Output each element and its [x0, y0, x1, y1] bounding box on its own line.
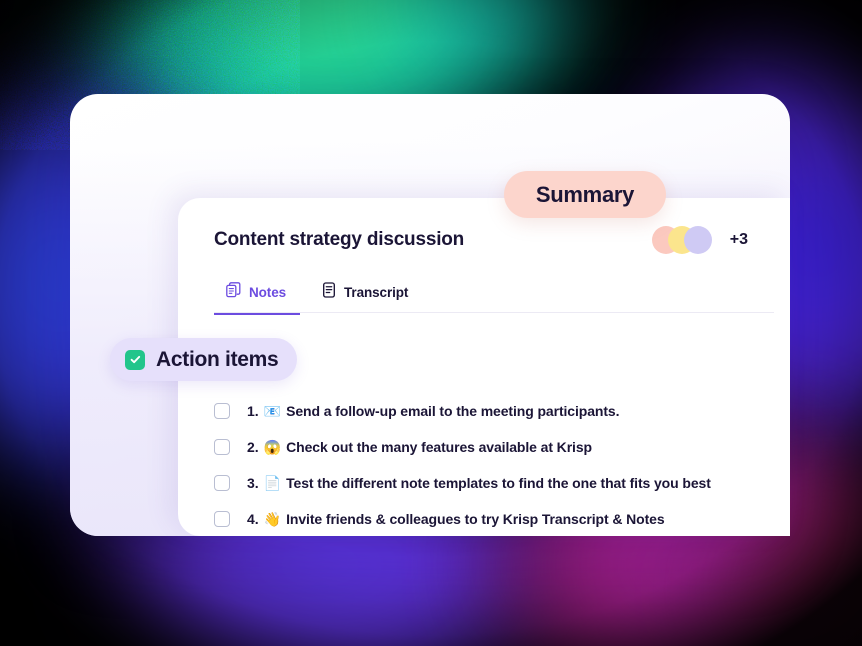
list-item[interactable]: 1. 📧 Send a follow-up email to the meeti…	[214, 393, 782, 429]
list-item[interactable]: 2. 😱 Check out the many features availab…	[214, 429, 782, 465]
tab-bar: Notes Transcript	[214, 278, 422, 315]
action-item-index: 4.	[247, 511, 259, 527]
status-badge-summary[interactable]: Summary	[504, 171, 666, 218]
action-item-index: 2.	[247, 439, 259, 455]
action-item-index: 3.	[247, 475, 259, 491]
participants-group[interactable]: +3	[652, 226, 754, 254]
action-item-text: Check out the many features available at…	[286, 439, 592, 455]
tab-notes[interactable]: Notes	[214, 278, 300, 315]
tab-notes-label: Notes	[249, 285, 286, 300]
tab-transcript[interactable]: Transcript	[310, 278, 422, 315]
checked-checkbox-icon	[125, 350, 145, 370]
tabs-divider	[214, 312, 774, 313]
avatar[interactable]	[684, 226, 712, 254]
action-item-checkbox[interactable]	[214, 475, 230, 491]
list-item[interactable]: 3. 📄 Test the different note templates t…	[214, 465, 782, 501]
action-item-text: Invite friends & colleagues to try Krisp…	[286, 511, 664, 527]
transcript-document-icon	[322, 282, 336, 303]
tab-transcript-label: Transcript	[344, 285, 408, 300]
email-emoji: 📧	[264, 404, 281, 418]
action-item-text: Test the different note templates to fin…	[286, 475, 711, 491]
action-items-heading: Action items	[156, 348, 278, 372]
action-item-index: 1.	[247, 403, 259, 419]
notes-stacked-pages-icon	[226, 282, 241, 303]
list-item[interactable]: 4. 👋 Invite friends & colleagues to try …	[214, 501, 782, 537]
panel-header: Content strategy discussion +3	[214, 226, 754, 254]
page-title: Content strategy discussion	[214, 229, 464, 251]
action-item-checkbox[interactable]	[214, 511, 230, 527]
participants-overflow-count[interactable]: +3	[730, 231, 748, 249]
action-item-checkbox[interactable]	[214, 403, 230, 419]
action-item-text: Send a follow-up email to the meeting pa…	[286, 403, 619, 419]
page-emoji: 📄	[264, 476, 281, 490]
waving-hand-emoji: 👋	[264, 512, 281, 526]
action-items-badge[interactable]: Action items	[110, 338, 297, 381]
action-item-checkbox[interactable]	[214, 439, 230, 455]
screaming-face-emoji: 😱	[264, 440, 281, 454]
action-items-list: 1. 📧 Send a follow-up email to the meeti…	[214, 393, 782, 537]
